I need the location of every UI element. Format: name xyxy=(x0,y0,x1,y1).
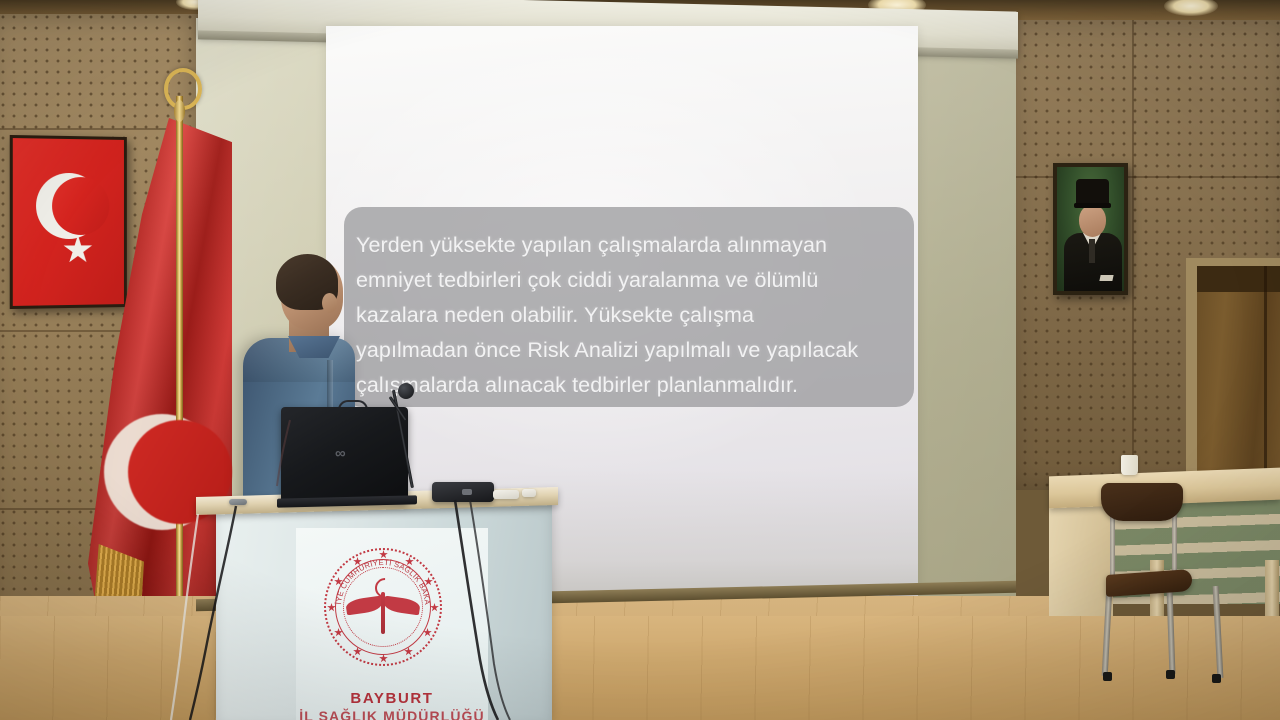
left-cable xyxy=(190,506,236,720)
power-cable xyxy=(470,500,510,720)
cable-bundle xyxy=(0,0,1280,720)
mic-cable xyxy=(455,500,498,720)
seminar-room-photo: Yerden yüksekte yapılan çalışmalarda alı… xyxy=(0,0,1280,720)
podium-back-cable xyxy=(277,420,290,486)
left-white-cable xyxy=(171,514,198,720)
